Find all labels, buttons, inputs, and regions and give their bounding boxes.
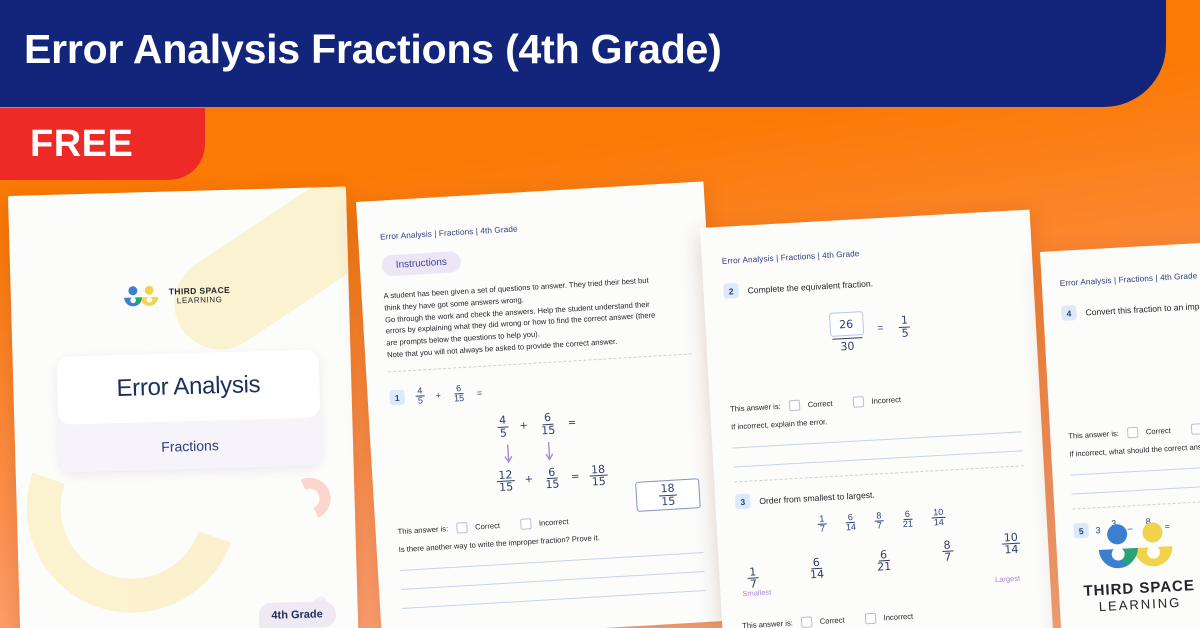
write-line[interactable] xyxy=(1070,460,1200,476)
fraction-denominator: 15 xyxy=(497,481,516,494)
correct-checkbox[interactable] xyxy=(456,522,468,534)
fraction-denominator: 15 xyxy=(589,476,608,489)
grade-badge: 4th Grade xyxy=(258,601,336,628)
answer-label: This answer is: xyxy=(397,524,448,536)
question-text: Convert this fraction to an improper fra… xyxy=(1085,298,1200,317)
fraction-denominator: 15 xyxy=(543,478,562,491)
given-fraction: 8 7 xyxy=(874,511,884,531)
incorrect-label: Incorrect xyxy=(539,517,569,528)
question-text: Complete the equivalent fraction. xyxy=(747,278,873,295)
write-line[interactable] xyxy=(400,552,704,571)
correct-label: Correct xyxy=(807,399,832,409)
fraction-denominator: 21 xyxy=(901,520,916,530)
question-4-prompt: 4 Convert this fraction to an improper f… xyxy=(1061,291,1200,321)
incorrect-label: Incorrect xyxy=(883,612,913,623)
fraction-denominator: 21 xyxy=(875,561,894,574)
cover-title: Error Analysis xyxy=(116,371,261,403)
fraction-denominator: 14 xyxy=(808,569,827,582)
correct-checkbox[interactable] xyxy=(788,400,800,412)
given-fraction: 6 21 xyxy=(900,509,915,530)
fraction-denominator: 5 xyxy=(899,327,911,339)
brand-wordmark-large: THIRD SPACE LEARNING xyxy=(1083,577,1196,615)
fraction-denominator: 7 xyxy=(942,552,954,564)
final-answer-box[interactable]: 18 15 xyxy=(635,478,701,512)
incorrect-checkbox[interactable] xyxy=(864,613,876,625)
incorrect-checkbox[interactable] xyxy=(520,518,532,530)
logo-svg xyxy=(123,284,162,311)
work-fraction-result: 18 15 xyxy=(589,463,608,488)
question-text: Order from smallest to largest. xyxy=(759,489,875,505)
prompt-fraction-b: 6 15 xyxy=(451,383,466,404)
fraction-denominator: 7 xyxy=(818,525,828,535)
answer-label: This answer is: xyxy=(1068,429,1119,441)
cover-subtitle: Fractions xyxy=(58,419,321,472)
question-2-equation: 26 30 = 1 5 xyxy=(725,303,1017,360)
worksheet-page-instructions: Error Analysis | Fractions | 4th Grade I… xyxy=(356,181,729,628)
free-badge: FREE xyxy=(0,108,205,180)
question-number: 3 xyxy=(735,494,751,510)
equivalent-fraction-right: 1 5 xyxy=(899,315,911,340)
fraction-denominator: 15 xyxy=(659,495,678,508)
question-number: 2 xyxy=(723,283,739,299)
decor-blob-pink-arc xyxy=(283,472,337,526)
correct-label: Correct xyxy=(1146,426,1171,436)
equals-sign: = xyxy=(877,323,883,334)
smallest-label: Smallest xyxy=(742,588,771,599)
question-number: 1 xyxy=(389,390,405,406)
given-fraction: 1 7 xyxy=(817,514,827,534)
down-arrow-icon xyxy=(543,440,554,463)
answer-label: This answer is: xyxy=(730,402,781,414)
cover-title-white-band: Error Analysis xyxy=(57,349,321,424)
answer-check-row: This answer is: Correct Incorrect xyxy=(1068,416,1200,442)
work-fraction: 6 15 xyxy=(538,412,557,437)
brand-logo-overlay: THIRD SPACE LEARNING xyxy=(1076,517,1200,615)
page-title: Error Analysis Fractions (4th Grade) xyxy=(24,26,722,73)
work-fraction: 12 15 xyxy=(496,469,515,494)
given-fraction: 10 14 xyxy=(931,508,946,529)
instructions-pill: Instructions xyxy=(381,251,461,277)
header-bar: Error Analysis Fractions (4th Grade) xyxy=(0,0,1166,107)
fraction-denominator: 5 xyxy=(498,427,510,439)
brand-line-2: LEARNING xyxy=(169,295,231,307)
answer-label: This answer is: xyxy=(742,618,793,628)
correct-label: Correct xyxy=(820,616,845,626)
fraction-denominator: 14 xyxy=(932,518,947,528)
free-badge-label: FREE xyxy=(30,123,133,166)
incorrect-checkbox[interactable] xyxy=(852,396,864,408)
fraction-denominator: 30 xyxy=(840,340,855,354)
cover-title-card: Error Analysis Fractions xyxy=(57,349,322,472)
largest-label: Largest xyxy=(995,574,1020,584)
decor-blob-yellow-bar xyxy=(157,187,359,368)
fraction-numerator: 26 xyxy=(839,317,854,331)
write-line[interactable] xyxy=(1072,479,1200,495)
fraction-denominator: 15 xyxy=(452,394,467,404)
fraction-denominator: 14 xyxy=(1002,544,1021,557)
third-space-logo-icon-large xyxy=(1090,518,1185,579)
ordered-fraction: 6 14 xyxy=(807,556,826,581)
prompt-operator: + xyxy=(435,390,441,400)
given-fraction: 6 14 xyxy=(843,513,858,534)
prompt-equals: = xyxy=(477,387,483,397)
work-equals: = xyxy=(568,417,577,428)
third-space-logo-icon xyxy=(123,284,162,311)
question-1-prompt: 1 4 5 + 6 15 = xyxy=(389,370,694,408)
brand-wordmark: THIRD SPACE LEARNING xyxy=(169,285,231,307)
fraction-denominator: 14 xyxy=(844,523,859,533)
correct-label: Correct xyxy=(475,521,500,531)
answer-fraction: 18 15 xyxy=(658,482,677,507)
write-line[interactable] xyxy=(733,450,1023,467)
sheet2-header: Error Analysis | Fractions | 4th Grade xyxy=(380,215,684,242)
fraction-input-box[interactable]: 26 xyxy=(829,311,864,337)
ordered-fraction: 1 7 xyxy=(747,566,759,591)
incorrect-label: Incorrect xyxy=(871,395,901,406)
fraction-denominator: 5 xyxy=(416,396,426,406)
sheet3-header: Error Analysis | Fractions | 4th Grade xyxy=(722,241,1012,266)
correct-checkbox[interactable] xyxy=(1127,427,1139,439)
work-fraction: 4 5 xyxy=(497,415,509,440)
worksheet-cover-page: THIRD SPACE LEARNING Error Analysis Frac… xyxy=(8,187,358,628)
instructions-block: A student has been given a set of questi… xyxy=(383,273,691,361)
divider-dashed xyxy=(1072,494,1200,510)
write-line[interactable] xyxy=(402,590,706,609)
ordered-fraction: 10 14 xyxy=(1001,532,1020,557)
logo-svg-large xyxy=(1090,518,1185,579)
correct-checkbox[interactable] xyxy=(801,616,813,628)
down-arrow-icon xyxy=(503,443,514,466)
promo-graphic: Error Analysis Fractions (4th Grade) FRE… xyxy=(0,0,1200,628)
ordered-fraction: 6 21 xyxy=(874,549,893,574)
question-2-prompt: 2 Complete the equivalent fraction. xyxy=(723,268,1013,299)
work-operator: + xyxy=(524,474,533,485)
fraction-denominator: 15 xyxy=(539,424,558,437)
brand-logo: THIRD SPACE LEARNING xyxy=(123,282,231,311)
write-line[interactable] xyxy=(401,571,705,590)
fraction-denominator: 7 xyxy=(875,522,885,532)
work-fraction: 6 15 xyxy=(542,466,561,491)
prompt-fraction-a: 4 5 xyxy=(415,386,425,406)
write-line[interactable] xyxy=(732,431,1022,448)
question-number: 4 xyxy=(1061,305,1077,321)
ordered-fraction: 8 7 xyxy=(941,539,953,564)
sheet4-header: Error Analysis | Fractions | 4th Grade xyxy=(1060,264,1200,288)
work-equals: = xyxy=(571,471,580,482)
work-operator: + xyxy=(519,420,528,431)
equivalent-fraction-left: 26 30 xyxy=(829,311,865,354)
incorrect-checkbox[interactable] xyxy=(1190,423,1200,435)
worksheet-page-q2-q3: Error Analysis | Fractions | 4th Grade 2… xyxy=(700,210,1053,628)
